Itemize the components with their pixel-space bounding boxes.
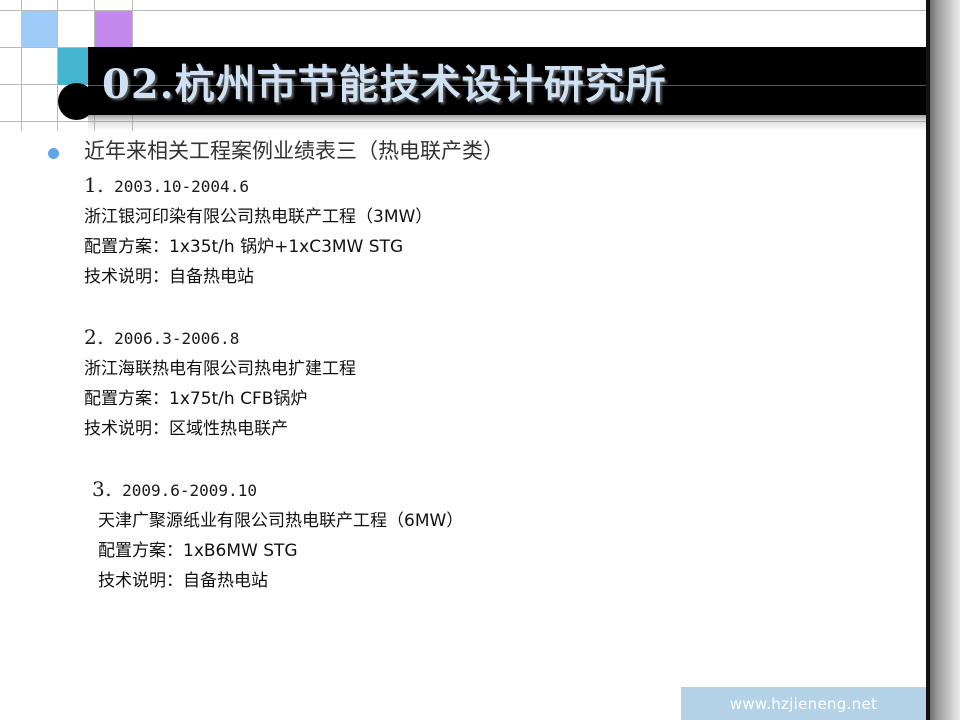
bullet-heading-text: 近年来相关工程案例业绩表三（热电联产类） bbox=[84, 139, 504, 163]
slide-canvas: 02.杭州市节能技术设计研究所 近年来相关工程案例业绩表三（热电联产类） 1.2… bbox=[0, 0, 960, 720]
project-entry-note: 技术说明：自备热电站 bbox=[84, 262, 926, 292]
project-entry-number: 1. bbox=[84, 173, 114, 197]
project-entry: 3.2009.6-2009.10 天津广聚源纸业有限公司热电联产工程（6MW） … bbox=[0, 474, 926, 596]
bullet-dot-icon bbox=[48, 148, 59, 159]
project-entry: 2.2006.3-2006.8 浙江海联热电有限公司热电扩建工程 配置方案：1x… bbox=[0, 322, 926, 444]
project-entry-dates: 2009.6-2009.10 bbox=[122, 481, 257, 500]
project-entry-note: 技术说明：区域性热电联产 bbox=[84, 414, 926, 444]
slide-body: 近年来相关工程案例业绩表三（热电联产类） 1.2003.10-2004.6 浙江… bbox=[0, 136, 926, 596]
page-right-shadow bbox=[930, 0, 960, 720]
decoration-square-purple bbox=[95, 11, 132, 47]
page-title: 02.杭州市节能技术设计研究所 bbox=[102, 52, 667, 110]
project-entry-config: 配置方案：1xB6MW STG bbox=[92, 536, 926, 566]
project-entry-name: 浙江海联热电有限公司热电扩建工程 bbox=[84, 354, 926, 384]
slide-page: 02.杭州市节能技术设计研究所 近年来相关工程案例业绩表三（热电联产类） 1.2… bbox=[0, 0, 926, 720]
title-bar-shadow bbox=[88, 115, 926, 131]
project-entry-header: 2.2006.3-2006.8 bbox=[84, 322, 926, 354]
footer-website-url: www.hzjieneng.net bbox=[681, 695, 926, 713]
footer-bar: www.hzjieneng.net bbox=[681, 687, 926, 720]
project-entry-name: 浙江银河印染有限公司热电联产工程（3MW） bbox=[84, 202, 926, 232]
entry-spacer bbox=[0, 444, 926, 474]
bullet-heading-row: 近年来相关工程案例业绩表三（热电联产类） bbox=[0, 136, 926, 170]
entry-spacer bbox=[0, 292, 926, 322]
project-entry-number: 2. bbox=[84, 325, 114, 349]
slide-title-bar: 02.杭州市节能技术设计研究所 bbox=[88, 47, 926, 115]
project-entry-config: 配置方案：1x75t/h CFB锅炉 bbox=[84, 384, 926, 414]
project-entry-dates: 2003.10-2004.6 bbox=[114, 177, 249, 196]
project-entry-header: 3.2009.6-2009.10 bbox=[92, 474, 926, 506]
project-entry-note: 技术说明：自备热电站 bbox=[92, 566, 926, 596]
project-entry-config: 配置方案：1x35t/h 锅炉+1xC3MW STG bbox=[84, 232, 926, 262]
project-entry-header: 1.2003.10-2004.6 bbox=[84, 170, 926, 202]
grid-line-horizontal bbox=[0, 10, 926, 11]
project-entry-name: 天津广聚源纸业有限公司热电联产工程（6MW） bbox=[92, 506, 926, 536]
decoration-square-light-blue bbox=[21, 11, 57, 47]
project-entry-number: 3. bbox=[92, 477, 122, 501]
project-entry-dates: 2006.3-2006.8 bbox=[114, 329, 239, 348]
project-entry: 1.2003.10-2004.6 浙江银河印染有限公司热电联产工程（3MW） 配… bbox=[0, 170, 926, 292]
